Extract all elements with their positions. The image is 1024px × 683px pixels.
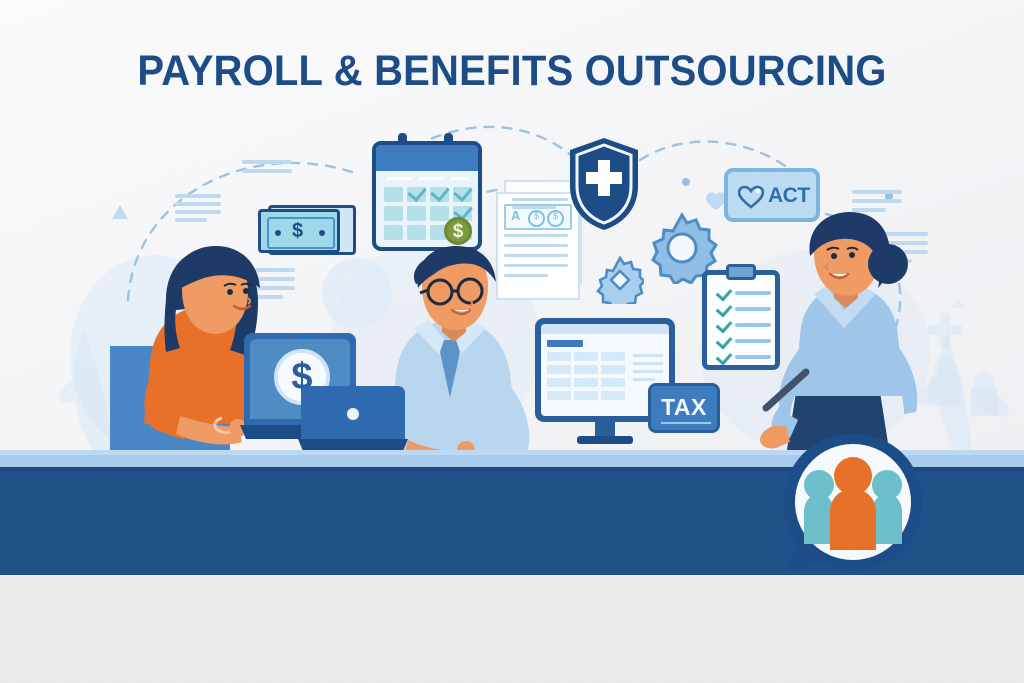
people-group-badge (778, 428, 928, 580)
act-label: ACT (768, 184, 810, 208)
calendar-icon: $ (372, 133, 482, 251)
calendar-dollar-coin: $ (444, 217, 472, 245)
tax-label: TAX (651, 394, 717, 421)
person-woman-right (752, 212, 932, 456)
calendar-header (376, 145, 478, 171)
heart-icon (738, 185, 764, 209)
laptop-front (298, 378, 408, 456)
tax-underline (661, 422, 711, 424)
monitor-base (577, 436, 633, 444)
tax-badge: TAX (648, 383, 720, 433)
page-title: PAYROLL & BENEFITS OUTSOURCING (36, 48, 988, 95)
floor-area (0, 575, 1024, 683)
poster-canvas: $ $ A $ $ (0, 0, 1024, 683)
gear-small-icon (596, 256, 644, 304)
shield-health-icon (566, 136, 642, 232)
